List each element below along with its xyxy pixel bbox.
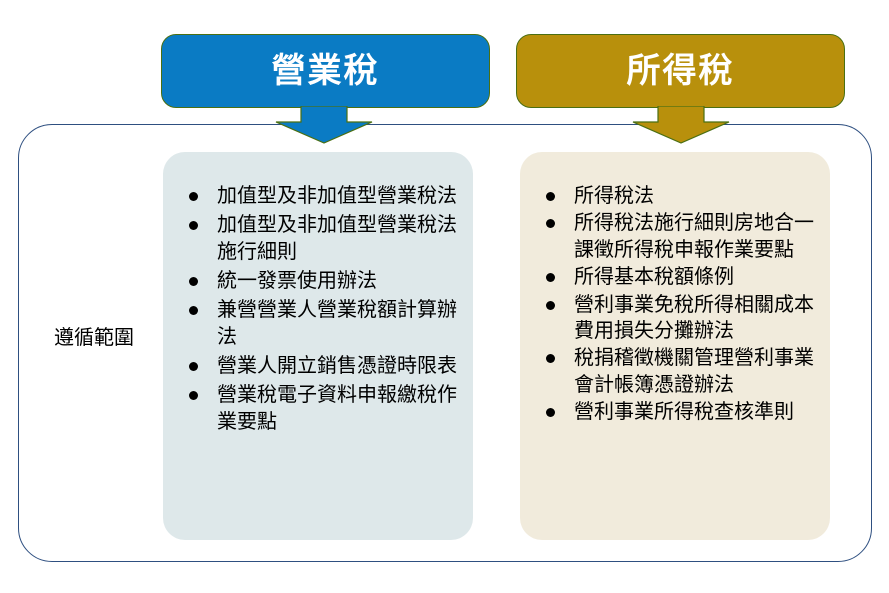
compliance-scope-diagram: 營業稅 所得稅 遵循範圍 加值型及非加值型營業稅法 加值型及非加值型營業稅法施行…: [0, 0, 889, 593]
bullet-dot-icon: [189, 391, 198, 400]
bullet-dot-icon: [189, 192, 198, 201]
list-item-label: 所得基本稅額條例: [574, 263, 816, 289]
bullet-dot-icon: [546, 273, 555, 282]
list-item-label: 所得稅法: [574, 182, 816, 208]
bullet-dot-icon: [546, 408, 555, 417]
panel-income-tax: 所得稅法 所得稅法施行細則房地合一課徵所得稅申報作業要點 所得基本稅額條例 營利…: [520, 152, 830, 540]
down-arrow-icon-sales: [274, 106, 374, 144]
list-item: 營利事業所得稅查核準則: [534, 398, 816, 424]
list-item-label: 營業稅電子資料申報繳稅作業要點: [217, 381, 459, 435]
header-label-income-tax: 所得稅: [627, 54, 735, 88]
bullet-dot-icon: [189, 362, 198, 371]
list-item: 營業稅電子資料申報繳稅作業要點: [177, 381, 459, 435]
list-item-label: 所得稅法施行細則房地合一課徵所得稅申報作業要點: [574, 209, 816, 262]
bullet-dot-icon: [546, 192, 555, 201]
list-item: 統一發票使用辦法: [177, 267, 459, 294]
list-item-label: 統一發票使用辦法: [217, 267, 459, 294]
list-item: 營業人開立銷售憑證時限表: [177, 352, 459, 379]
list-income-tax: 所得稅法 所得稅法施行細則房地合一課徵所得稅申報作業要點 所得基本稅額條例 營利…: [534, 182, 816, 425]
list-item-label: 稅捐稽徵機關管理營利事業會計帳簿憑證辦法: [574, 344, 816, 397]
list-item: 稅捐稽徵機關管理營利事業會計帳簿憑證辦法: [534, 344, 816, 397]
list-item-label: 兼營營業人營業稅額計算辦法: [217, 296, 459, 350]
list-item: 兼營營業人營業稅額計算辦法: [177, 296, 459, 350]
header-box-sales-tax[interactable]: 營業稅: [161, 34, 490, 108]
panel-sales-tax: 加值型及非加值型營業稅法 加值型及非加值型營業稅法施行細則 統一發票使用辦法 兼…: [163, 152, 473, 540]
list-item-label: 營業人開立銷售憑證時限表: [217, 352, 459, 379]
list-item: 加值型及非加值型營業稅法: [177, 182, 459, 209]
list-item-label: 加值型及非加值型營業稅法施行細則: [217, 211, 459, 265]
list-item: 所得基本稅額條例: [534, 263, 816, 289]
list-item: 加值型及非加值型營業稅法施行細則: [177, 211, 459, 265]
bullet-dot-icon: [189, 221, 198, 230]
list-sales-tax: 加值型及非加值型營業稅法 加值型及非加值型營業稅法施行細則 統一發票使用辦法 兼…: [177, 182, 459, 435]
bullet-dot-icon: [189, 277, 198, 286]
down-arrow-icon-income: [631, 106, 731, 144]
list-item-label: 加值型及非加值型營業稅法: [217, 182, 459, 209]
list-item: 所得稅法施行細則房地合一課徵所得稅申報作業要點: [534, 209, 816, 262]
list-item-label: 營利事業免稅所得相關成本費用損失分攤辦法: [574, 291, 816, 344]
scope-label: 遵循範圍: [28, 325, 160, 349]
bullet-dot-icon: [546, 354, 555, 363]
header-label-sales-tax: 營業稅: [272, 54, 380, 88]
header-box-income-tax[interactable]: 所得稅: [516, 34, 845, 108]
bullet-dot-icon: [546, 301, 555, 310]
list-item-label: 營利事業所得稅查核準則: [574, 398, 816, 424]
list-item: 所得稅法: [534, 182, 816, 208]
bullet-dot-icon: [189, 306, 198, 315]
bullet-dot-icon: [546, 219, 555, 228]
list-item: 營利事業免稅所得相關成本費用損失分攤辦法: [534, 291, 816, 344]
